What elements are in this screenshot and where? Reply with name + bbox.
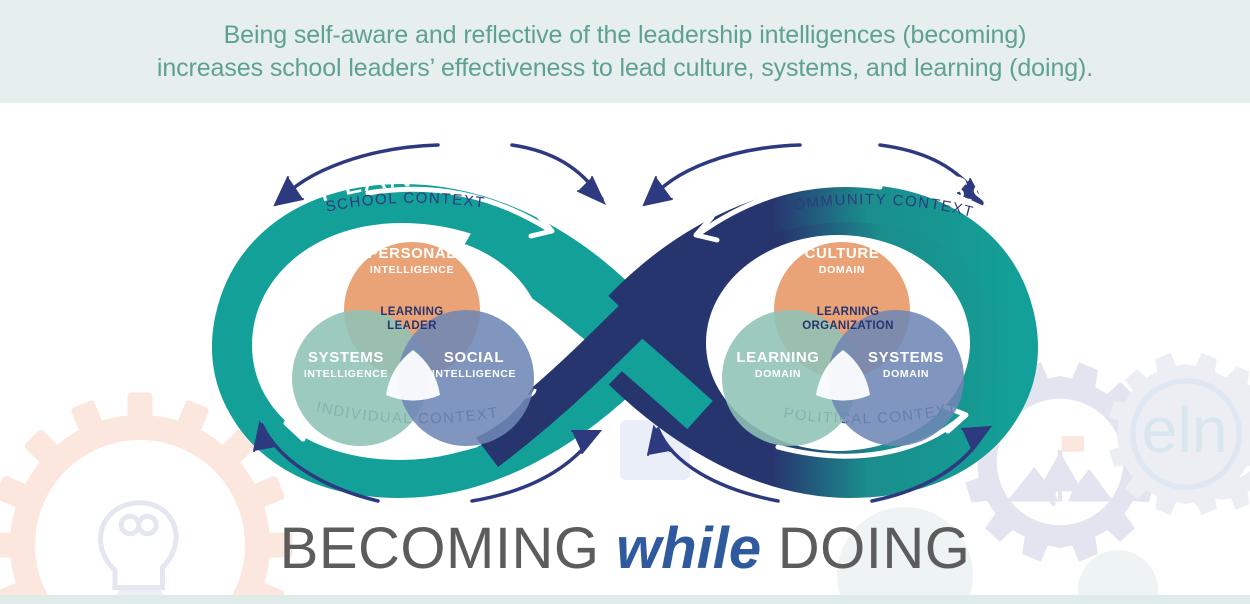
venn-left-label-personal-title: PERSONAL [368, 245, 456, 262]
title-emphasis-while: while [616, 516, 761, 581]
bottom-accent-band [0, 595, 1250, 604]
page-title: BECOMING while DOING [0, 518, 1250, 580]
title-part-doing: DOING [778, 516, 971, 581]
infographic-canvas: eln Being self-aware and reflective of t… [0, 0, 1250, 604]
venn-left-label-social-title: SOCIAL [444, 349, 504, 366]
title-part-becoming: BECOMING [280, 516, 600, 581]
venn-right-center-line2: ORGANIZATION [802, 320, 894, 332]
venn-right-label-systems-title: SYSTEMS [868, 349, 944, 366]
venn-right-label-culture-subtitle: DOMAIN [819, 264, 865, 276]
header-banner: Being self-aware and reflective of the l… [0, 0, 1250, 103]
venn-right-label-learning-title: LEARNING [736, 349, 819, 366]
header-line-1: Being self-aware and reflective of the l… [224, 19, 1027, 52]
venn-right-label-systems-subtitle: DOMAIN [883, 368, 929, 380]
venn-right-label-culture-title: CULTURE [805, 245, 880, 262]
venn-right-center-line1: LEARNING [817, 306, 879, 318]
header-line-2: increases school leaders’ effectiveness … [157, 52, 1093, 85]
venn-left-center-line1: LEARNING [380, 306, 443, 318]
venn-left-label-personal-subtitle: INTELLIGENCE [370, 264, 454, 276]
venn-right-label-learning-subtitle: DOMAIN [755, 368, 801, 380]
venn-left-center-line2: LEADER [387, 320, 437, 332]
infinity-loop-diagram: SCHOOL CONTEXT COMMUNITY CONTEXT INDIVID… [0, 95, 1250, 535]
venn-left-label-systems-title: SYSTEMS [308, 349, 384, 366]
venn-left-label-social-subtitle: INTELLIGENCE [432, 368, 516, 380]
venn-left-label-systems-subtitle: INTELLIGENCE [304, 368, 388, 380]
